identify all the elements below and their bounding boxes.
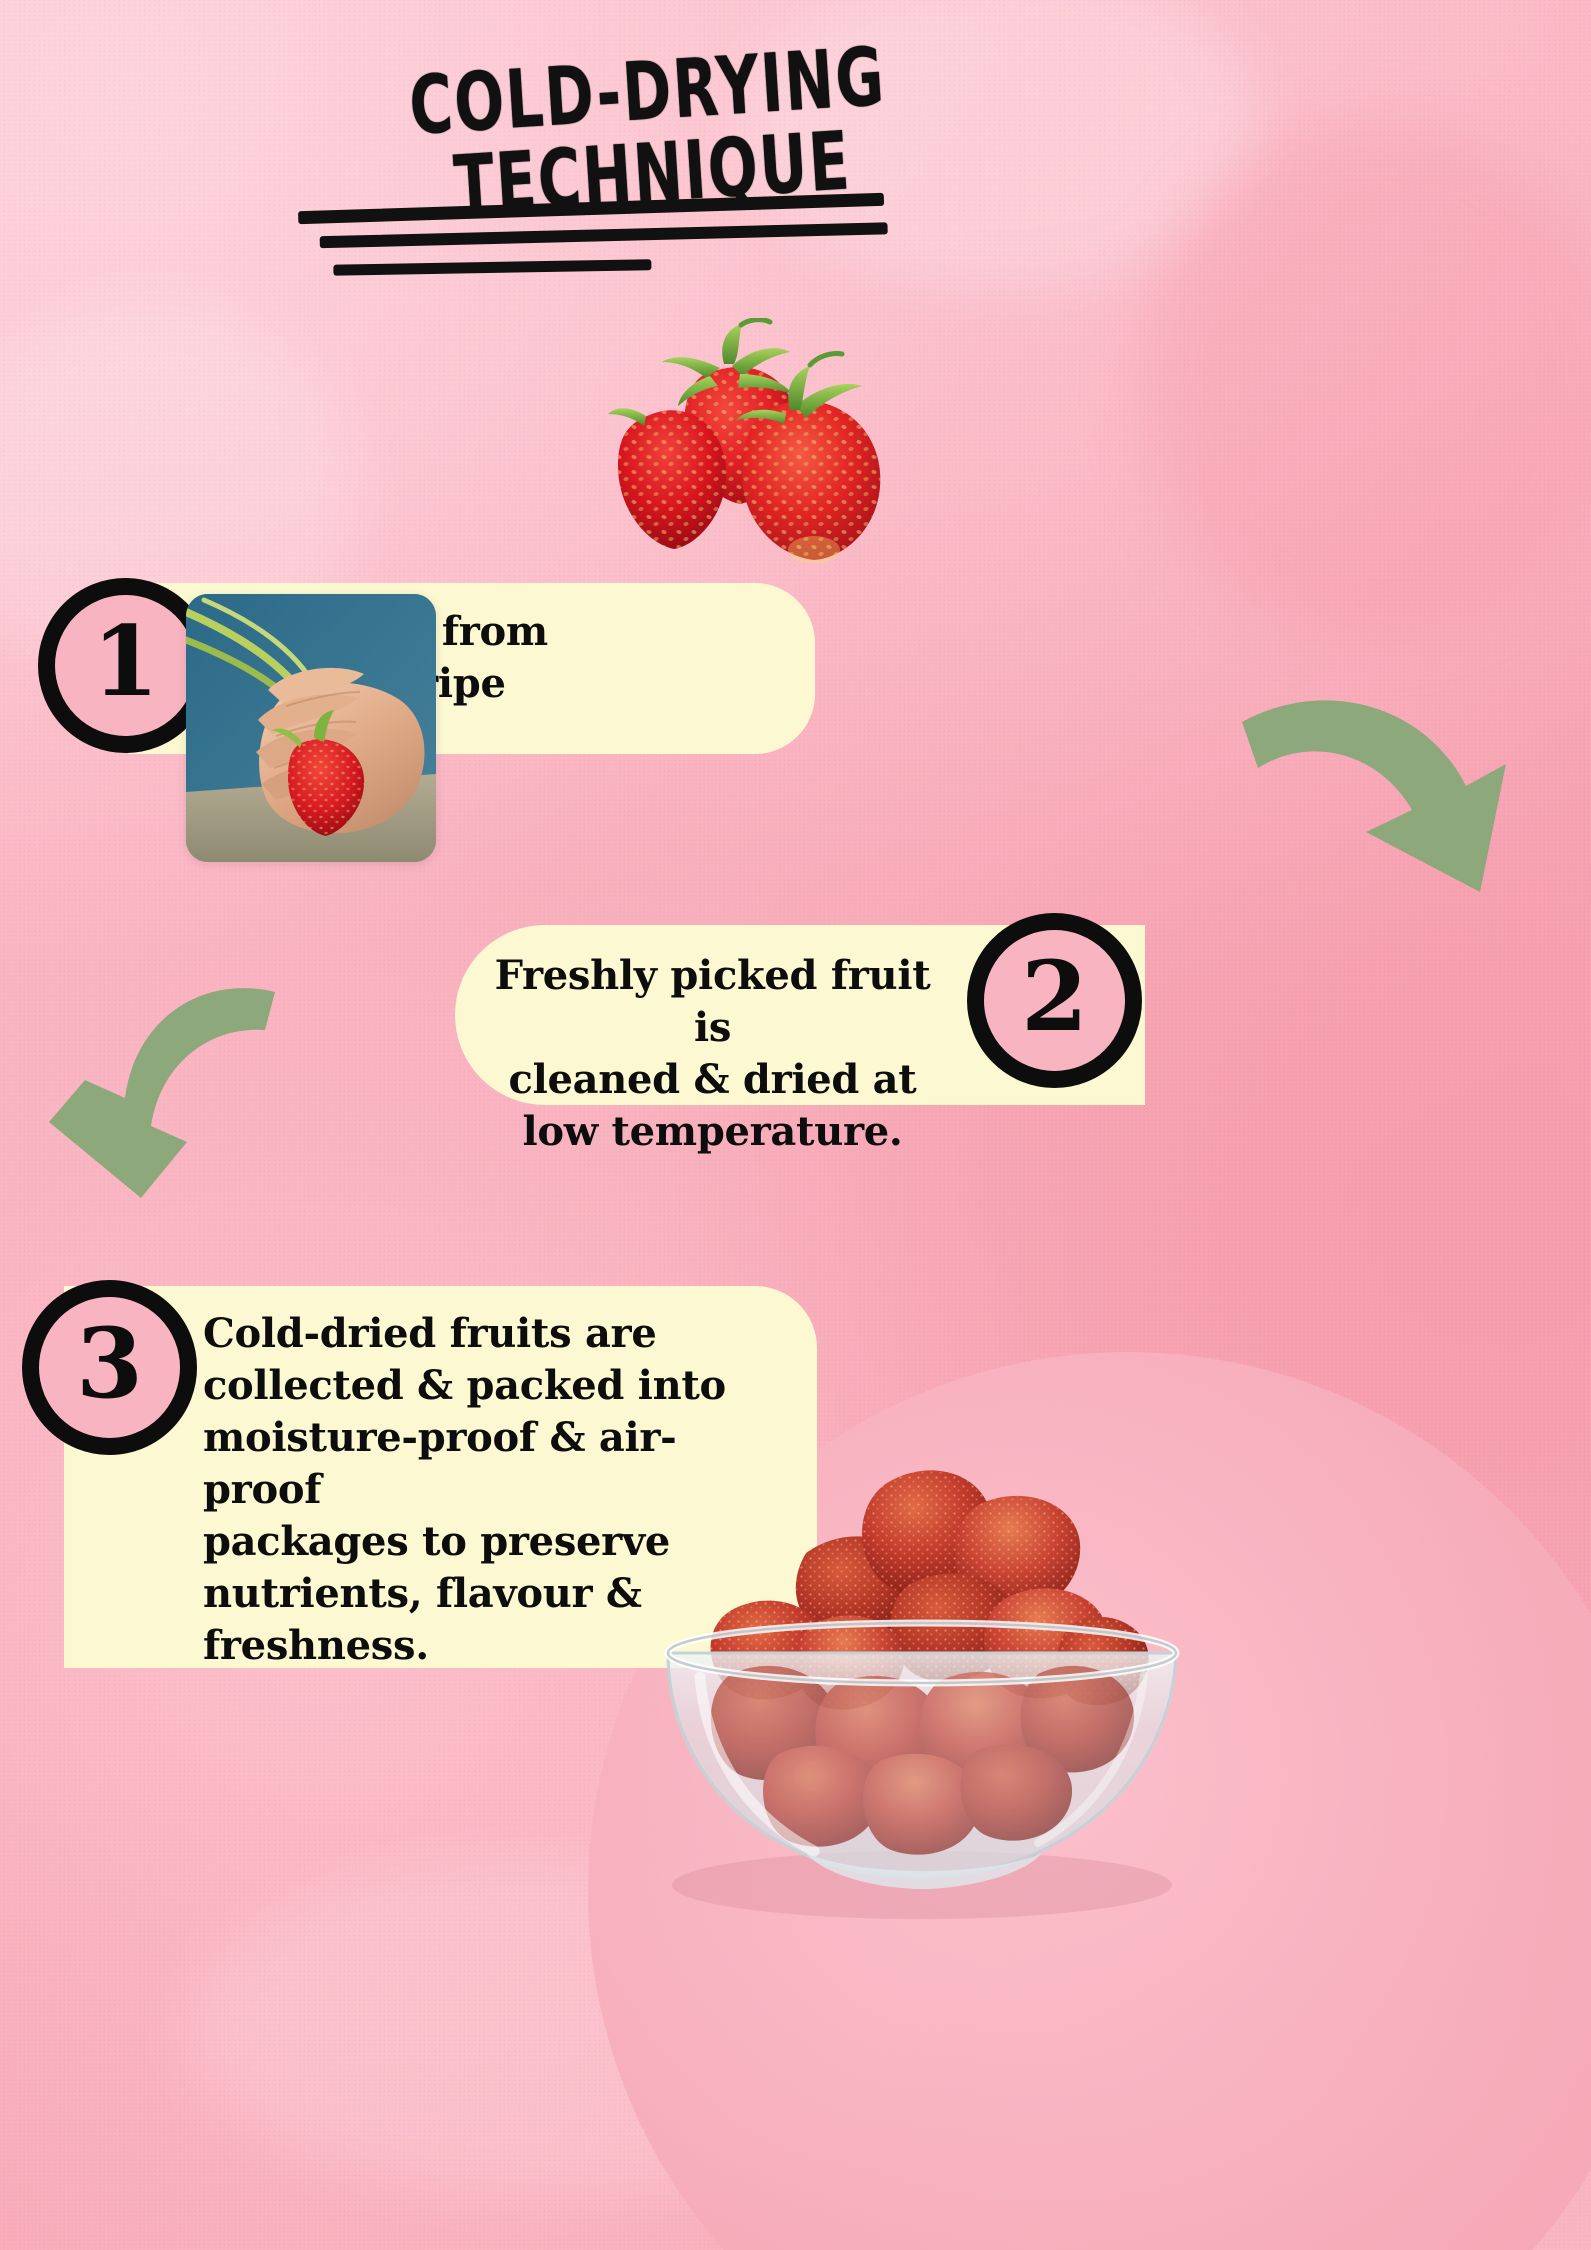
step-3-number: 3 — [76, 1316, 143, 1412]
hand-holding-strawberry-photo — [186, 594, 436, 862]
step-3-badge: 3 — [22, 1280, 197, 1455]
step-2-text: Freshly picked fruit is cleaned & dried … — [485, 950, 940, 1158]
underline-stroke-3 — [333, 259, 651, 276]
step-1-number: 1 — [92, 614, 159, 710]
arrow-step2-to-step3 — [25, 970, 275, 1205]
arrow-step1-to-step2 — [1230, 690, 1570, 940]
underline-stroke-2 — [320, 222, 888, 248]
step-2-number: 2 — [1021, 949, 1088, 1045]
dried-strawberries-bowl-photo — [610, 1385, 1280, 1955]
infographic-poster: COLD-DRYING TECHNIQUE — [0, 0, 1591, 2250]
fresh-strawberries-photo — [600, 318, 900, 563]
step-2-badge: 2 — [967, 913, 1142, 1088]
